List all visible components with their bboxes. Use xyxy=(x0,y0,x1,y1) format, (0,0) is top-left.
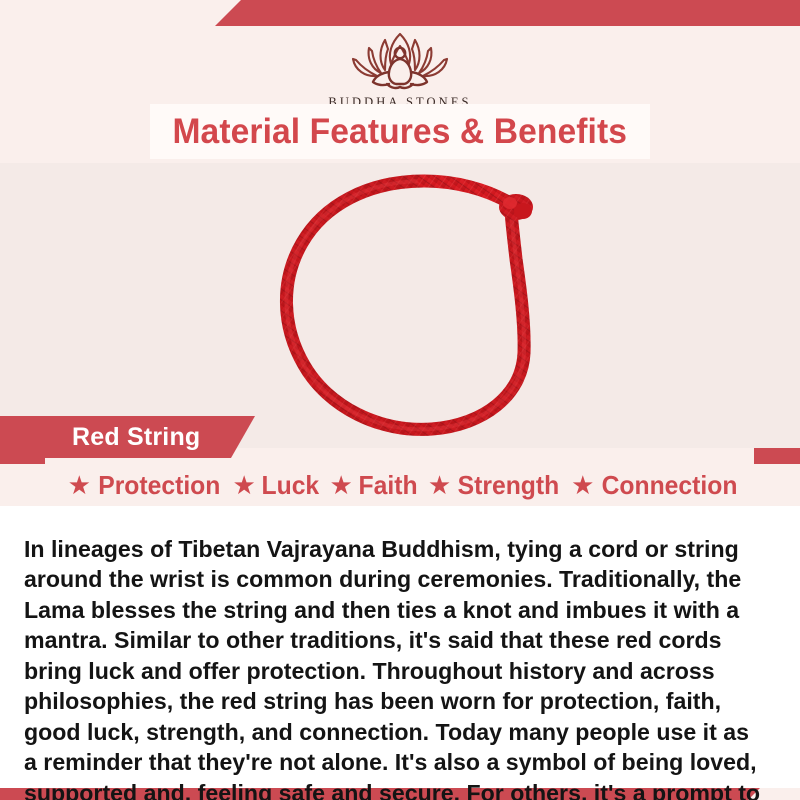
star-icon: ★ xyxy=(232,472,255,498)
feature-item-strength: ★ Strength xyxy=(419,470,562,501)
product-name-banner: Red String xyxy=(0,416,255,458)
star-icon: ★ xyxy=(571,472,594,498)
feature-item-connection: ★ Connection xyxy=(562,470,741,501)
title-banner: Material Features & Benefits xyxy=(150,104,650,159)
feature-label: Protection xyxy=(98,470,220,501)
star-icon: ★ xyxy=(329,472,352,498)
decorative-bar-top xyxy=(215,0,800,26)
product-name-label: Red String xyxy=(72,423,200,452)
red-braided-string-bracelet-image xyxy=(272,167,582,448)
features-row: ★ Protection ★ Luck ★ Faith ★ Strength ★… xyxy=(0,464,800,506)
bracelet-knot xyxy=(499,194,533,220)
feature-label: Luck xyxy=(261,470,319,501)
lotus-meditation-icon xyxy=(325,26,475,94)
feature-label: Faith xyxy=(358,470,417,501)
description-area: In lineages of Tibetan Vajrayana Buddhis… xyxy=(0,506,800,788)
star-icon: ★ xyxy=(428,472,451,498)
product-image-area xyxy=(0,163,800,448)
infographic-page: BUDDHA STONES Material Features & Benefi… xyxy=(0,0,800,800)
feature-item-luck: ★ Luck xyxy=(223,470,320,501)
feature-item-protection: ★ Protection xyxy=(59,470,224,501)
feature-label: Connection xyxy=(602,470,738,501)
feature-label: Strength xyxy=(458,470,560,501)
description-paragraph: In lineages of Tibetan Vajrayana Buddhis… xyxy=(24,534,765,800)
star-icon: ★ xyxy=(68,472,91,498)
page-title: Material Features & Benefits xyxy=(173,112,628,152)
feature-item-faith: ★ Faith xyxy=(320,470,418,501)
